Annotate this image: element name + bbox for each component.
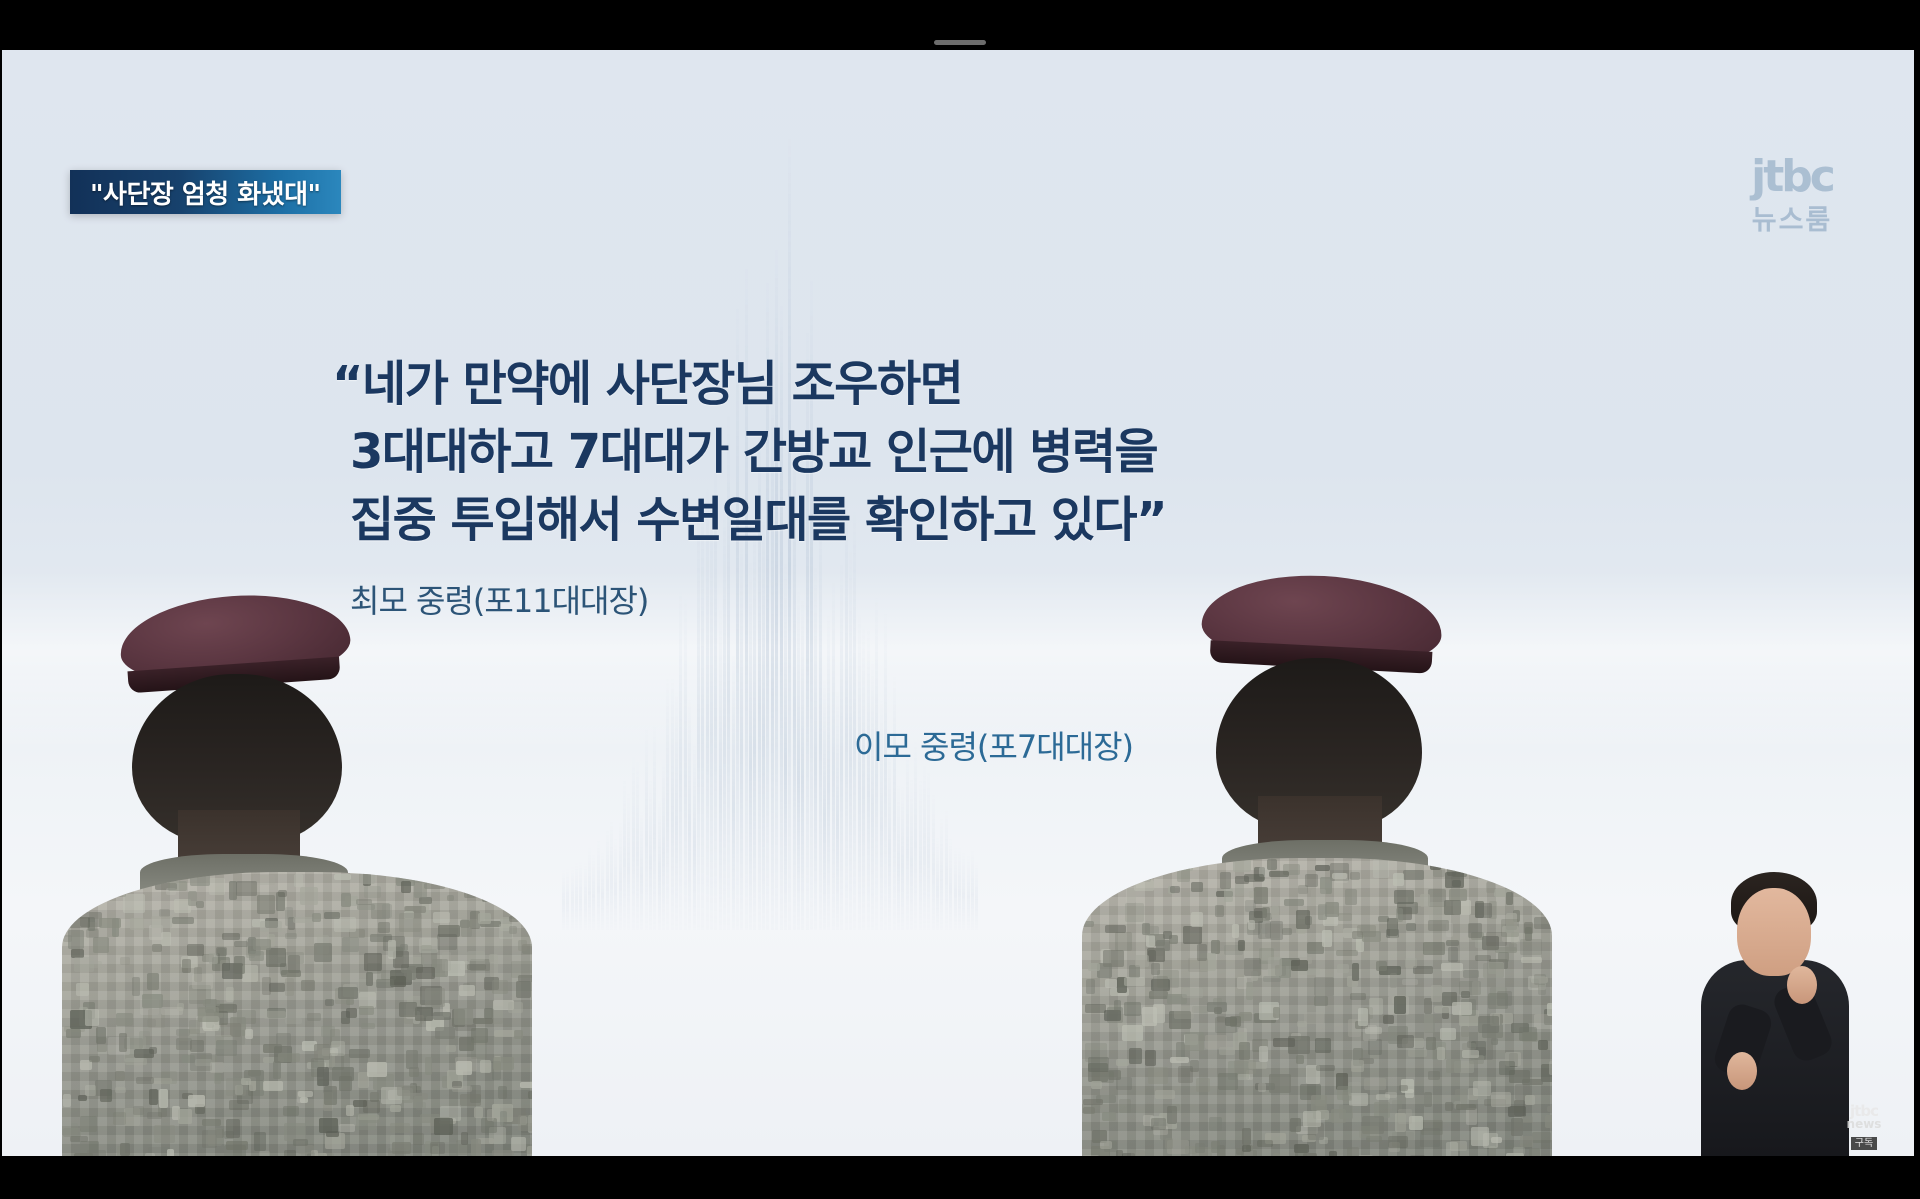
headline-banner: "사단장 엄청 화냈대" — [70, 170, 341, 214]
interpreter-hand-right — [1787, 966, 1817, 1004]
quote-line-1: “네가 만약에 사단장님 조우하면 — [332, 350, 1512, 418]
video-frame[interactable]: "사단장 엄청 화냈대" jtbc 뉴스룸 “네가 만약에 사단장님 조우하면 … — [2, 50, 1914, 1156]
window-drag-handle[interactable] — [934, 40, 986, 45]
player-root: "사단장 엄청 화냈대" jtbc 뉴스룸 “네가 만약에 사단장님 조우하면 … — [0, 0, 1920, 1199]
headline-text: "사단장 엄청 화냈대" — [90, 174, 321, 211]
channel-logo: jtbc 뉴스룸 — [1726, 155, 1858, 234]
interpreter-head — [1737, 888, 1811, 976]
watermark-subscribe: 구독 — [1851, 1137, 1877, 1150]
letterbox-right — [1914, 0, 1920, 1199]
soldier-left-figure — [62, 596, 532, 1156]
watermark-news: news — [1836, 1118, 1892, 1131]
soldier-right-figure — [1082, 576, 1552, 1156]
quote-line-2: 3대대하고 7대대가 간방교 인근에 병력을 — [350, 418, 1512, 486]
interpreter-hand-left — [1727, 1052, 1757, 1090]
program-name-label: 뉴스룸 — [1726, 207, 1858, 234]
uniform-body — [62, 872, 532, 1156]
uniform-body — [1082, 858, 1552, 1156]
corner-watermark: jtbc news 구독 — [1836, 1105, 1892, 1150]
jtbc-logo-icon: jtbc — [1726, 155, 1858, 199]
letterbox-bottom — [0, 1156, 1920, 1199]
quote-line-3: 집중 투입해서 수변일대를 확인하고 있다” — [350, 486, 1512, 554]
quote-block: “네가 만약에 사단장님 조우하면 3대대하고 7대대가 간방교 인근에 병력을… — [332, 350, 1512, 554]
